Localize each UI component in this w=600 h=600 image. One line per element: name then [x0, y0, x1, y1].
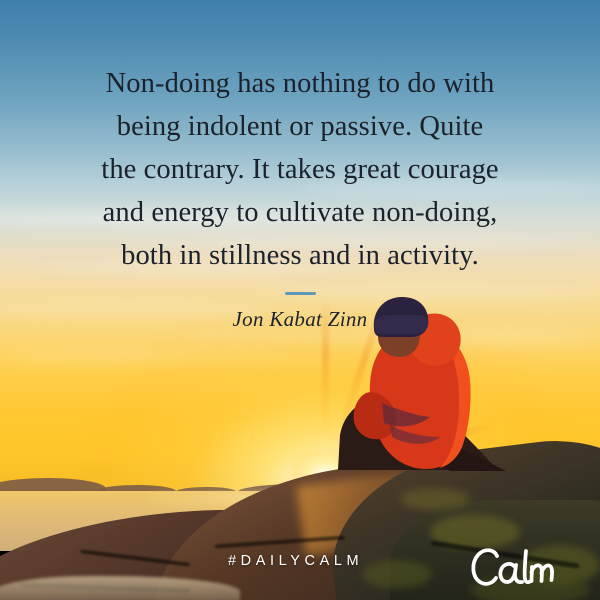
quote-text: Non-doing has nothing to do with being i… [50, 62, 550, 277]
text-overlay: Non-doing has nothing to do with being i… [0, 0, 600, 600]
quote-author: Jon Kabat Zinn [50, 307, 550, 332]
quote-divider [285, 292, 316, 295]
calm-logo[interactable] [466, 544, 562, 592]
daily-calm-quote-card: Non-doing has nothing to do with being i… [0, 0, 600, 600]
quote-line: and energy to cultivate non-doing, [50, 191, 550, 234]
quote-line: both in stillness and in activity. [50, 234, 550, 277]
footer-bar: #DAILYCALM [0, 548, 600, 588]
quote-line: the contrary. It takes great courage [50, 148, 550, 191]
quote-line: being indolent or passive. Quite [50, 105, 550, 148]
quote-line: Non-doing has nothing to do with [50, 62, 550, 105]
hashtag-label: #DAILYCALM [228, 553, 363, 569]
